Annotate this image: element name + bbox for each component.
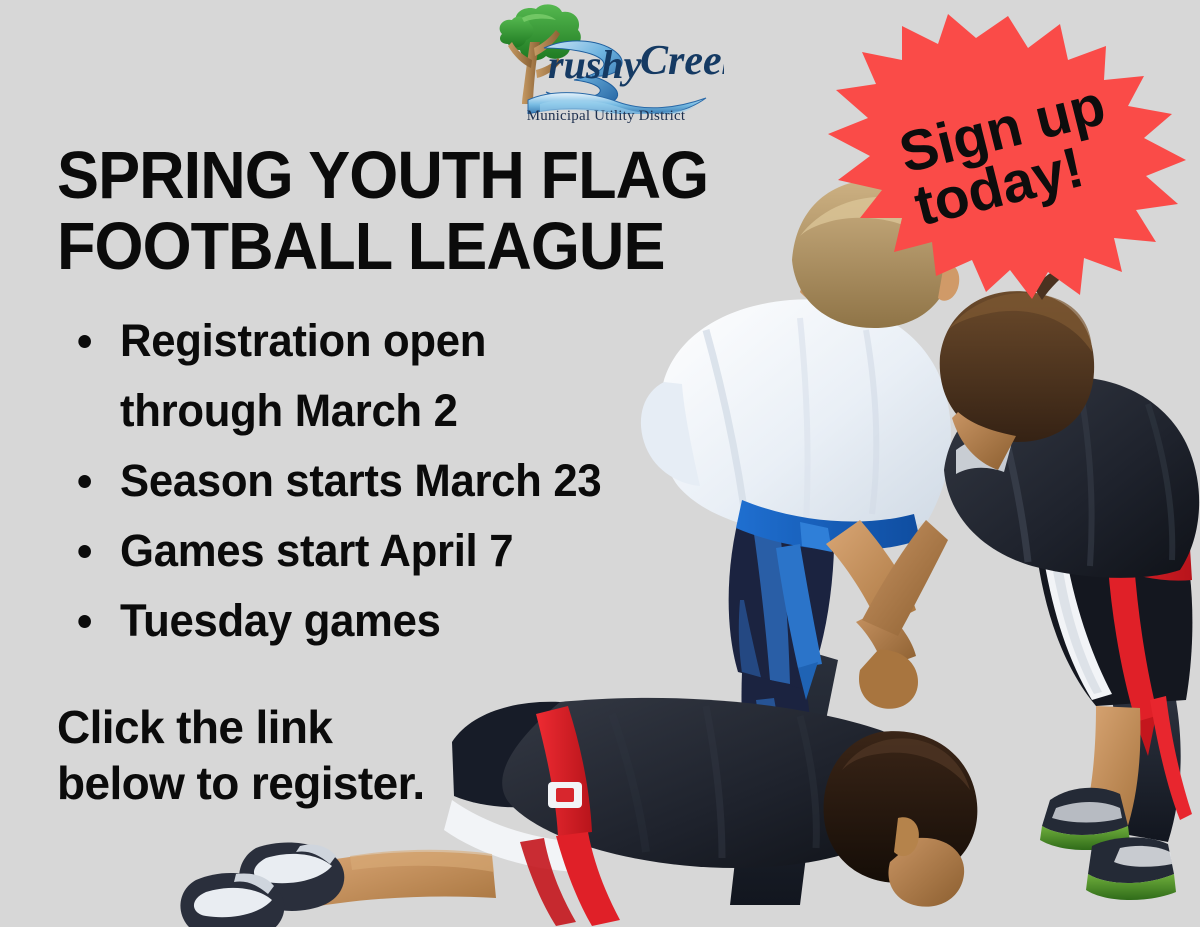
list-item: Tuesday games (57, 586, 794, 656)
player-dark-jersey-right (862, 266, 1199, 900)
details-list: Registration open through March 2 Season… (57, 306, 817, 656)
brushy-creek-mud-logo: rushy Creek Municipal Utility District (488, 4, 724, 136)
sign-up-today-badge[interactable]: Sign up today! (822, 14, 1192, 299)
list-item: Registration open through March 2 (57, 306, 794, 446)
page-title: SPRING YOUTH FLAG FOOTBALL LEAGUE (57, 140, 771, 282)
flyer-text-content: SPRING YOUTH FLAG FOOTBALL LEAGUE Regist… (57, 140, 817, 811)
svg-text:Creek: Creek (640, 38, 724, 84)
logo-subtitle: Municipal Utility District (488, 108, 724, 125)
flyer-canvas: rushy Creek Municipal Utility District S… (0, 0, 1200, 927)
list-item: Games start April 7 (57, 516, 794, 586)
starburst-shape (828, 14, 1186, 299)
call-to-action-text: Click the link below to register. (57, 699, 817, 811)
logo-wordmark: rushy (548, 42, 642, 87)
list-item: Season starts March 23 (57, 446, 794, 516)
